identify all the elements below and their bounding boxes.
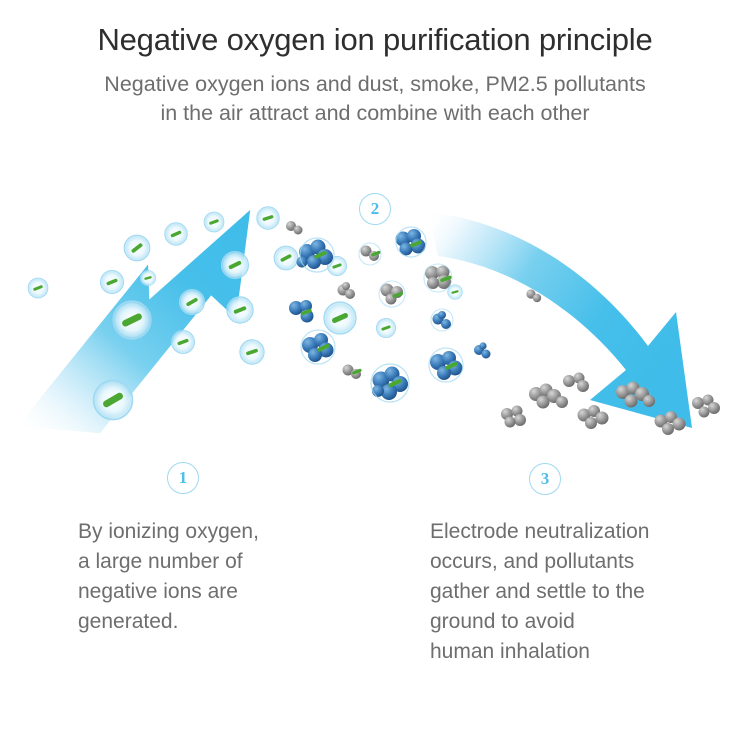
caption-right-line-4: ground to avoid — [430, 607, 730, 637]
header: Negative oxygen ion purification princip… — [0, 22, 750, 128]
step-badge-2[interactable]: 2 — [359, 193, 391, 225]
caption-left-line-4: generated. — [78, 607, 378, 637]
caption-right-line-1: Electrode neutralization — [430, 517, 730, 547]
caption-step-1: By ionizing oxygen, a large number of ne… — [78, 517, 378, 637]
caption-right-line-2: occurs, and pollutants — [430, 547, 730, 577]
caption-right-line-5: human inhalation — [430, 637, 730, 667]
caption-left-line-2: a large number of — [78, 547, 378, 577]
page-subtitle: Negative oxygen ions and dust, smoke, PM… — [0, 70, 750, 128]
caption-step-3: Electrode neutralization occurs, and pol… — [430, 517, 730, 667]
caption-right-line-3: gather and settle to the — [430, 577, 730, 607]
caption-left-line-3: negative ions are — [78, 577, 378, 607]
caption-left-line-1: By ionizing oxygen, — [78, 517, 378, 547]
infographic-page: Negative oxygen ion purification princip… — [0, 0, 750, 750]
subtitle-line-2: in the air attract and combine with each… — [0, 99, 750, 128]
page-title: Negative oxygen ion purification princip… — [0, 22, 750, 59]
step-badge-3[interactable]: 3 — [529, 463, 561, 495]
step-badge-1[interactable]: 1 — [167, 462, 199, 494]
subtitle-line-1: Negative oxygen ions and dust, smoke, PM… — [0, 70, 750, 99]
